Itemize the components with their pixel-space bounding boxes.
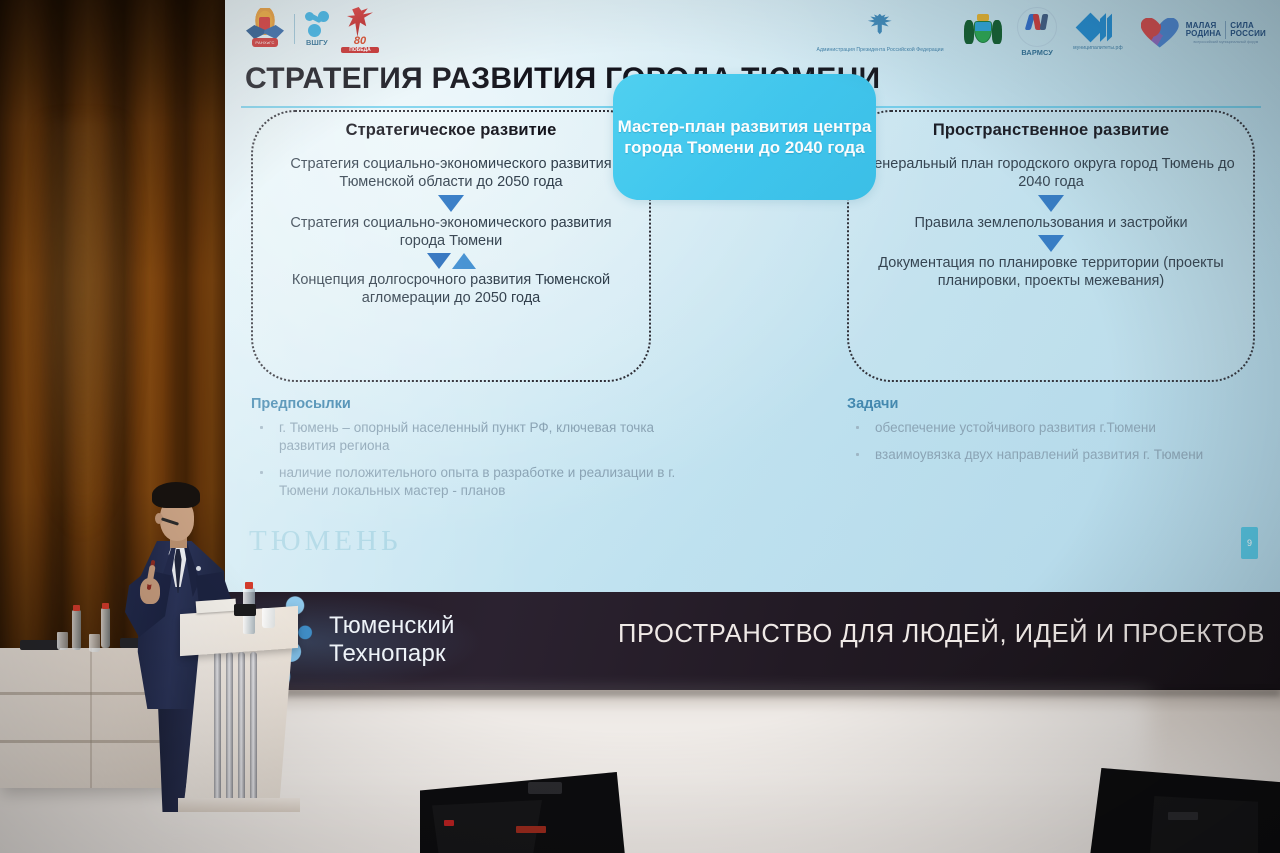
arrow-down-up-icon: [253, 253, 649, 269]
heart-icon: [1139, 15, 1183, 51]
malaya-rodina-logo: МАЛАЯ РОДИНА СИЛА РОССИИ всероссийский м…: [1139, 15, 1266, 51]
podium-rods: [214, 652, 266, 804]
slide-page-number: 9: [1241, 527, 1258, 559]
tasks-list: обеспечение устойчивого развития г.Тюмен…: [847, 419, 1267, 464]
varmsu-label: ВАРМСУ: [1021, 48, 1053, 57]
panel-left-item-3: Концепция долгосрочного развития Тюменск…: [253, 271, 649, 308]
drinking-glass: [57, 632, 68, 650]
bottle-cap: [73, 605, 80, 611]
podium-drinking-glass: [262, 608, 275, 628]
list-item: обеспечение устойчивого развития г.Тюмен…: [847, 419, 1267, 437]
rossii-label: РОССИИ: [1230, 30, 1266, 38]
wordmark-divider: [1225, 21, 1226, 39]
monitor-left-indicator: [444, 820, 454, 826]
panel-left-item-1: Стратегия социально-экономического разви…: [253, 155, 649, 192]
technopark-brand: Тюменский Технопарк: [329, 612, 455, 669]
panel-strategic-development: Стратегическое развитие Стратегия социал…: [251, 110, 651, 382]
rod: [226, 652, 233, 804]
master-plan-callout-text: Мастер-план развития центра города Тюмен…: [613, 116, 876, 158]
cabinet-tray: [20, 640, 60, 650]
water-bottle: [72, 610, 81, 650]
podium-base: [178, 798, 300, 812]
panel-left-heading: Стратегическое развитие: [253, 121, 649, 140]
ribbon-shape: РАНХиГС: [252, 38, 278, 47]
panel-right-item-1: Генеральный план городского округа город…: [849, 155, 1253, 192]
shield-shape: [974, 21, 992, 43]
emblem-rf-logo: РАНХиГС: [245, 8, 285, 50]
tyumen-watermark: ТЮМЕНЬ: [249, 525, 402, 558]
tasks-block: Задачи обеспечение устойчивого развития …: [847, 396, 1267, 473]
beaver-right-shape: [992, 20, 1002, 44]
podium-device: [234, 604, 256, 616]
monitor-right-port-panel: [1168, 812, 1198, 820]
coat-of-arms-icon: [963, 14, 1003, 52]
brand-line-2: Технопарк: [329, 640, 455, 668]
chevron-2: [1107, 13, 1112, 41]
curtain-shadow: [22, 120, 142, 540]
prerequisites-heading: Предпосылки: [251, 396, 691, 412]
crown-shape: [977, 14, 989, 21]
vshgu-label: ВШГУ: [306, 38, 328, 47]
beaver-left-shape: [964, 20, 974, 44]
logo-divider: [294, 14, 295, 44]
bottle-cap: [102, 603, 109, 609]
prerequisites-block: Предпосылки г. Тюмень – опорный населенн…: [251, 396, 691, 509]
tyumen-region-coat-of-arms-logo: [963, 14, 1003, 52]
wordmark-col-left: МАЛАЯ РОДИНА: [1186, 22, 1222, 39]
tasks-heading: Задачи: [847, 396, 1267, 412]
logo-group-left: РАНХиГС ВШГУ 80 ПОБЕДА: [245, 7, 381, 51]
list-item: г. Тюмень – опорный населенный пункт РФ,…: [251, 419, 691, 455]
vshgu-mark-icon: [304, 11, 330, 37]
rod: [238, 652, 245, 804]
varmsu-mark-icon: [1017, 7, 1057, 47]
president-administration-label: Администрация Президента Российской Феде…: [816, 47, 943, 53]
panel-left-item-2: Стратегия социально-экономического разви…: [253, 214, 649, 251]
floor-reflection: [150, 700, 1150, 850]
m-shape: [1027, 14, 1047, 30]
chevron-icon: [1080, 14, 1116, 44]
rod: [250, 652, 257, 804]
malaya-rodina-wordmark: МАЛАЯ РОДИНА СИЛА РОССИИ: [1186, 21, 1266, 39]
logo-group-right: Администрация Президента Российской Феде…: [811, 7, 1266, 58]
chevron-1: [1100, 13, 1106, 42]
projection-screen: РАНХиГС ВШГУ 80 ПОБЕДА: [225, 0, 1280, 592]
panel-right-item-2: Правила землепользования и застройки: [849, 214, 1253, 232]
list-item: взаимоувязка двух направлений развития г…: [847, 446, 1267, 464]
auditorium-stage: РАНХиГС ВШГУ 80 ПОБЕДА: [0, 0, 1280, 853]
monitor-left-port-panel: [528, 782, 562, 794]
speaker-lapel-pin: [196, 566, 201, 571]
rod: [214, 652, 221, 804]
bottle-cap: [245, 582, 253, 589]
prerequisites-list: г. Тюмень – опорный населенный пункт РФ,…: [251, 419, 691, 500]
municipalitety-rf-logo: муниципалитеты.рф: [1071, 14, 1125, 52]
victory-80-number: 80: [341, 36, 379, 47]
panel-right-heading: Пространственное развитие: [849, 121, 1253, 140]
emblem-rf-icon: РАНХиГС: [245, 8, 285, 50]
brand-line-1: Тюменский: [329, 612, 455, 640]
monitor-left-label: [516, 826, 546, 833]
heart-shape: [1141, 18, 1179, 48]
stage-banner: Тюменский Технопарк ПРОСТРАНСТВО ДЛЯ ЛЮД…: [225, 592, 1280, 692]
water-bottle: [101, 608, 110, 648]
forum-caption: всероссийский муниципальный форум: [1186, 40, 1266, 44]
panel-right-item-3: Документация по планировке территории (п…: [849, 254, 1253, 291]
rodina-label: РОДИНА: [1186, 30, 1222, 38]
varmsu-logo: ВАРМСУ: [1017, 7, 1057, 58]
victory-80-sub: ПОБЕДА: [341, 47, 379, 53]
master-plan-callout: Мастер-план развития центра города Тюмен…: [613, 74, 876, 200]
speaker-hair: [152, 482, 200, 508]
president-administration-logo: Администрация Президента Российской Феде…: [811, 12, 949, 54]
double-eagle-icon: [862, 12, 898, 46]
monitor-right-mount: [1150, 796, 1258, 853]
victory-80-logo: 80 ПОБЕДА: [339, 7, 381, 51]
arrow-down-icon: [849, 235, 1253, 252]
arrow-down-icon: [253, 195, 649, 212]
cabinet-seam-vertical: [90, 648, 92, 788]
banner-tagline: ПРОСТРАНСТВО ДЛЯ ЛЮДЕЙ, ИДЕЙ И ПРОЕКТОВ: [535, 620, 1265, 649]
vshgu-logo: ВШГУ: [304, 11, 330, 48]
municipalitety-rf-label: муниципалитеты.рф: [1073, 45, 1123, 51]
eagle-shape: [867, 14, 893, 38]
motherland-statue-icon: [347, 7, 373, 37]
ranhigs-label: РАНХиГС: [255, 40, 275, 45]
slide-logo-bar: РАНХиГС ВШГУ 80 ПОБЕДА: [225, 4, 1280, 60]
drinking-glass: [89, 634, 100, 652]
dot-3: [308, 24, 321, 37]
list-item: наличие положительного опыта в разработк…: [251, 464, 691, 500]
arrow-down-icon: [849, 195, 1253, 212]
wordmark-col-right: СИЛА РОССИИ: [1230, 22, 1266, 39]
panel-spatial-development: Пространственное развитие Генеральный пл…: [847, 110, 1255, 382]
